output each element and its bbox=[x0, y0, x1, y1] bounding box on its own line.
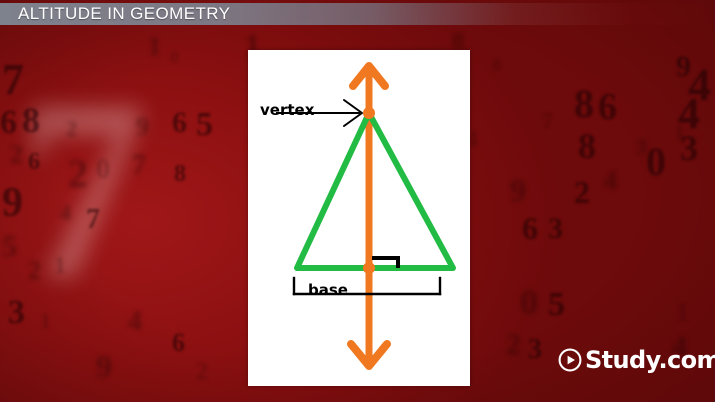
altitude-foot-point bbox=[363, 262, 375, 274]
play-circle-icon bbox=[558, 348, 582, 372]
vertex-point bbox=[363, 107, 375, 119]
slide-canvas: 7 71068269202569784752131469294486783031… bbox=[0, 0, 715, 402]
logo-wordmark: Study.com bbox=[585, 348, 715, 372]
page-title: ALTITUDE IN GEOMETRY bbox=[18, 4, 230, 24]
study-com-logo[interactable]: Study.com ™ bbox=[558, 348, 715, 372]
base-label: base bbox=[308, 281, 348, 299]
triangle-shape bbox=[297, 113, 453, 268]
title-bar: ALTITUDE IN GEOMETRY bbox=[0, 3, 715, 25]
vertex-label: vertex bbox=[260, 101, 314, 119]
